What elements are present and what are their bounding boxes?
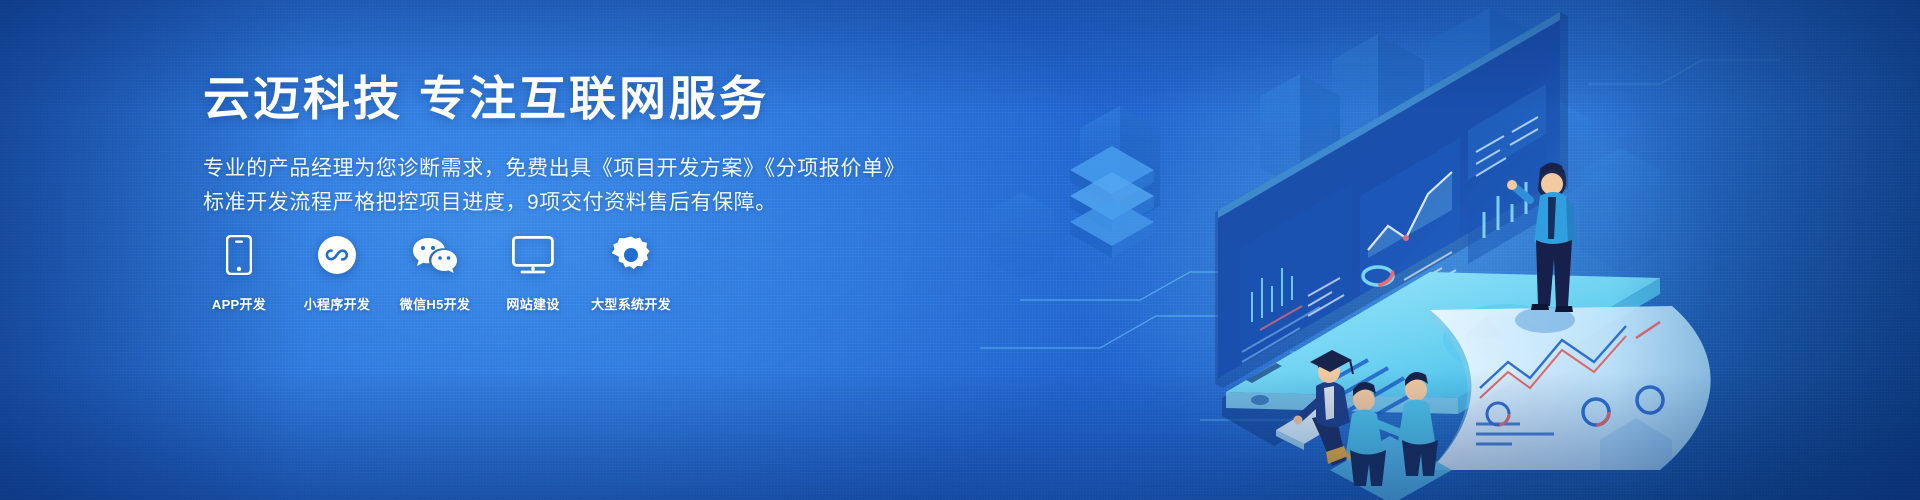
service-label: 小程序开发 — [304, 294, 371, 313]
hero-banner: 云迈科技 专注互联网服务 专业的产品经理为您诊断需求，免费出具《项目开发方案》《… — [0, 0, 1920, 500]
service-list: APP开发 小程序开发 微信 — [203, 233, 667, 313]
wechat-icon — [412, 233, 458, 277]
service-label: 网站建设 — [506, 294, 559, 313]
subtitle-line-1: 专业的产品经理为您诊断需求，免费出具《项目开发方案》《分项报价单》 — [203, 152, 903, 186]
service-label: APP开发 — [212, 294, 266, 313]
page-title: 云迈科技 专注互联网服务 — [203, 72, 903, 126]
mini-program-icon — [317, 233, 357, 277]
service-label: 大型系统开发 — [591, 294, 671, 313]
service-item-app[interactable]: APP开发 — [203, 233, 275, 313]
monitor-icon — [512, 233, 554, 277]
service-item-mini-program[interactable]: 小程序开发 — [301, 233, 373, 313]
gear-icon — [611, 233, 651, 277]
isometric-illustration — [960, 0, 1920, 500]
service-item-large-system[interactable]: 大型系统开发 — [595, 233, 667, 313]
service-label: 微信H5开发 — [400, 294, 470, 313]
banner-copy: 云迈科技 专注互联网服务 专业的产品经理为您诊断需求，免费出具《项目开发方案》《… — [203, 72, 903, 220]
service-item-website[interactable]: 网站建设 — [497, 233, 569, 313]
subtitle-line-2: 标准开发流程严格把控项目进度，9项交付资料售后有保障。 — [203, 186, 903, 220]
service-item-wechat-h5[interactable]: 微信H5开发 — [399, 233, 471, 313]
mobile-phone-icon — [226, 233, 252, 277]
